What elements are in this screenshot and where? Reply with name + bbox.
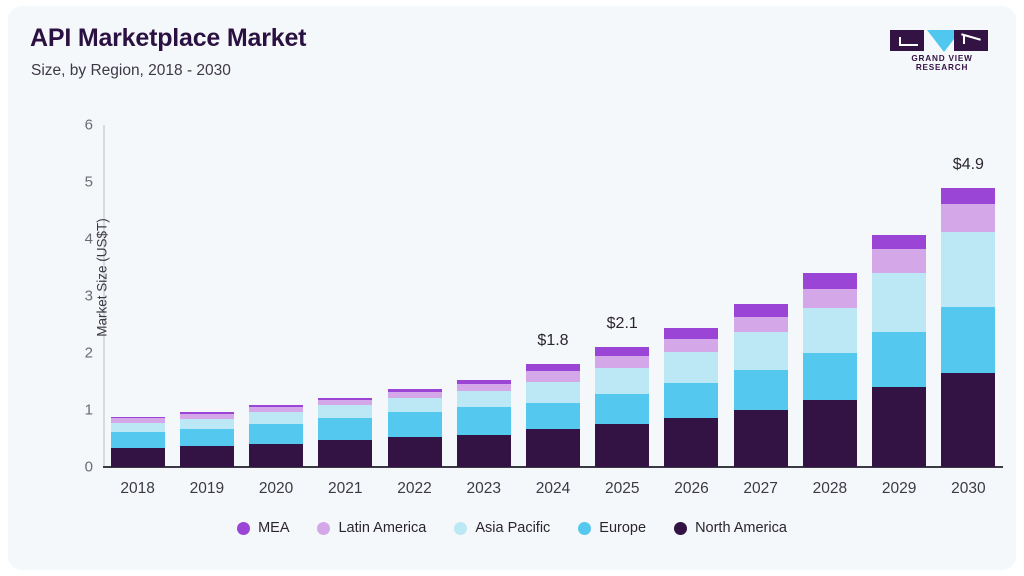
legend-swatch-icon bbox=[578, 522, 591, 535]
legend-item-north-america[interactable]: North America bbox=[674, 520, 787, 536]
bar-segment-europe[interactable] bbox=[664, 383, 718, 418]
bar-segment-asia-pacific[interactable] bbox=[249, 412, 303, 423]
bar-2027[interactable] bbox=[734, 304, 788, 467]
bar-segment-mea[interactable] bbox=[526, 364, 580, 371]
bar-segment-latin-america[interactable] bbox=[457, 384, 511, 391]
bar-segment-asia-pacific[interactable] bbox=[595, 368, 649, 394]
bar-segment-europe[interactable] bbox=[318, 418, 372, 440]
bar-value-label-2030: $4.9 bbox=[953, 156, 984, 174]
page-subtitle: Size, by Region, 2018 - 2030 bbox=[31, 62, 231, 80]
x-axis-tick-2027: 2027 bbox=[726, 480, 795, 498]
bar-segment-north-america[interactable] bbox=[318, 440, 372, 467]
x-axis-tick-2026: 2026 bbox=[657, 480, 726, 498]
bar-segment-asia-pacific[interactable] bbox=[388, 398, 442, 412]
bar-segment-europe[interactable] bbox=[249, 424, 303, 444]
chart-card: API Marketplace Market Size, by Region, … bbox=[8, 6, 1016, 570]
legend-label: MEA bbox=[258, 520, 289, 536]
legend-label: Asia Pacific bbox=[475, 520, 550, 536]
bar-2028[interactable] bbox=[803, 273, 857, 467]
bar-segment-north-america[interactable] bbox=[803, 400, 857, 467]
bar-segment-asia-pacific[interactable] bbox=[180, 419, 234, 429]
bar-segment-europe[interactable] bbox=[872, 332, 926, 387]
bar-segment-latin-america[interactable] bbox=[595, 356, 649, 368]
y-axis-tick-1: 1 bbox=[63, 402, 93, 419]
bar-segment-north-america[interactable] bbox=[249, 444, 303, 467]
bar-2022[interactable] bbox=[388, 389, 442, 467]
bar-segment-mea[interactable] bbox=[941, 188, 995, 205]
bar-segment-europe[interactable] bbox=[388, 412, 442, 437]
legend-label: North America bbox=[695, 520, 787, 536]
bar-2024[interactable] bbox=[526, 364, 580, 467]
legend-item-latin-america[interactable]: Latin America bbox=[317, 520, 426, 536]
bar-segment-europe[interactable] bbox=[111, 432, 165, 449]
logo-square-left-icon bbox=[890, 30, 924, 51]
bar-segment-mea[interactable] bbox=[872, 235, 926, 249]
bar-value-label-2025: $2.1 bbox=[607, 315, 638, 333]
bar-segment-mea[interactable] bbox=[664, 328, 718, 339]
bar-segment-north-america[interactable] bbox=[180, 446, 234, 467]
chart-legend: MEALatin AmericaAsia PacificEuropeNorth … bbox=[8, 520, 1016, 536]
x-axis-tick-2030: 2030 bbox=[934, 480, 1003, 498]
bar-segment-asia-pacific[interactable] bbox=[526, 382, 580, 404]
plot-area: Market Size (US$T) $1.8$2.1$4.9 bbox=[103, 125, 1003, 467]
bar-segment-north-america[interactable] bbox=[457, 435, 511, 467]
legend-swatch-icon bbox=[237, 522, 250, 535]
bar-segment-north-america[interactable] bbox=[664, 418, 718, 467]
bar-segment-north-america[interactable] bbox=[526, 429, 580, 467]
bar-segment-asia-pacific[interactable] bbox=[664, 352, 718, 383]
bar-segment-europe[interactable] bbox=[180, 429, 234, 447]
bar-segment-europe[interactable] bbox=[595, 394, 649, 424]
bar-segment-asia-pacific[interactable] bbox=[803, 308, 857, 353]
bar-segment-north-america[interactable] bbox=[734, 410, 788, 467]
x-axis-tick-2028: 2028 bbox=[795, 480, 864, 498]
x-axis-tick-2029: 2029 bbox=[865, 480, 934, 498]
y-axis-tick-6: 6 bbox=[63, 117, 93, 134]
bar-2023[interactable] bbox=[457, 380, 511, 467]
bar-segment-europe[interactable] bbox=[941, 307, 995, 373]
x-axis-tick-2022: 2022 bbox=[380, 480, 449, 498]
x-axis-tick-2019: 2019 bbox=[172, 480, 241, 498]
bar-segment-asia-pacific[interactable] bbox=[111, 423, 165, 432]
bar-segment-north-america[interactable] bbox=[111, 448, 165, 467]
legend-label: Europe bbox=[599, 520, 646, 536]
page-title: API Marketplace Market bbox=[30, 24, 306, 53]
bar-segment-north-america[interactable] bbox=[872, 387, 926, 467]
bar-segment-mea[interactable] bbox=[595, 347, 649, 356]
y-axis-tick-5: 5 bbox=[63, 174, 93, 191]
bar-segment-north-america[interactable] bbox=[595, 424, 649, 467]
y-axis-tick-3: 3 bbox=[63, 288, 93, 305]
bar-2021[interactable] bbox=[318, 398, 372, 467]
bar-segment-asia-pacific[interactable] bbox=[872, 273, 926, 332]
bar-segment-mea[interactable] bbox=[803, 273, 857, 288]
bar-2025[interactable] bbox=[595, 347, 649, 467]
x-axis-tick-2025: 2025 bbox=[588, 480, 657, 498]
bar-2019[interactable] bbox=[180, 412, 234, 467]
bar-2029[interactable] bbox=[872, 235, 926, 467]
brand-logo: GRAND VIEW RESEARCH bbox=[884, 28, 1000, 66]
bar-segment-europe[interactable] bbox=[803, 353, 857, 400]
legend-label: Latin America bbox=[338, 520, 426, 536]
bar-2018[interactable] bbox=[111, 417, 165, 467]
logo-square-right-icon bbox=[954, 30, 988, 51]
bar-segment-asia-pacific[interactable] bbox=[318, 405, 372, 418]
legend-swatch-icon bbox=[317, 522, 330, 535]
x-axis-tick-2021: 2021 bbox=[311, 480, 380, 498]
legend-item-europe[interactable]: Europe bbox=[578, 520, 646, 536]
bar-segment-mea[interactable] bbox=[734, 304, 788, 317]
bar-value-label-2024: $1.8 bbox=[537, 332, 568, 350]
bar-segment-north-america[interactable] bbox=[941, 373, 995, 467]
y-axis-tick-0: 0 bbox=[63, 459, 93, 476]
x-axis-tick-2018: 2018 bbox=[103, 480, 172, 498]
bar-2026[interactable] bbox=[664, 328, 718, 467]
logo-marks bbox=[884, 28, 1000, 52]
bar-segment-latin-america[interactable] bbox=[664, 339, 718, 353]
bar-segment-asia-pacific[interactable] bbox=[457, 391, 511, 407]
legend-swatch-icon bbox=[674, 522, 687, 535]
bar-segment-latin-america[interactable] bbox=[526, 371, 580, 381]
bar-segment-latin-america[interactable] bbox=[872, 249, 926, 274]
bar-segment-latin-america[interactable] bbox=[941, 204, 995, 232]
legend-item-mea[interactable]: MEA bbox=[237, 520, 289, 536]
y-axis-tick-4: 4 bbox=[63, 231, 93, 248]
bar-segment-north-america[interactable] bbox=[388, 437, 442, 467]
x-axis-tick-2023: 2023 bbox=[449, 480, 518, 498]
bar-segment-asia-pacific[interactable] bbox=[734, 332, 788, 369]
legend-swatch-icon bbox=[454, 522, 467, 535]
bar-segment-europe[interactable] bbox=[734, 370, 788, 410]
x-axis-tick-2024: 2024 bbox=[518, 480, 587, 498]
y-axis-tick-2: 2 bbox=[63, 345, 93, 362]
logo-wordmark: GRAND VIEW RESEARCH bbox=[884, 54, 1000, 72]
bar-segment-latin-america[interactable] bbox=[803, 289, 857, 308]
bar-2020[interactable] bbox=[249, 405, 303, 467]
bar-segment-asia-pacific[interactable] bbox=[941, 232, 995, 307]
legend-item-asia-pacific[interactable]: Asia Pacific bbox=[454, 520, 550, 536]
bar-segment-europe[interactable] bbox=[457, 407, 511, 435]
bar-2030[interactable] bbox=[941, 188, 995, 467]
y-axis-title: Market Size (US$T) bbox=[95, 107, 110, 449]
x-axis-tick-2020: 2020 bbox=[241, 480, 310, 498]
bar-segment-europe[interactable] bbox=[526, 403, 580, 429]
bar-segment-latin-america[interactable] bbox=[734, 317, 788, 333]
